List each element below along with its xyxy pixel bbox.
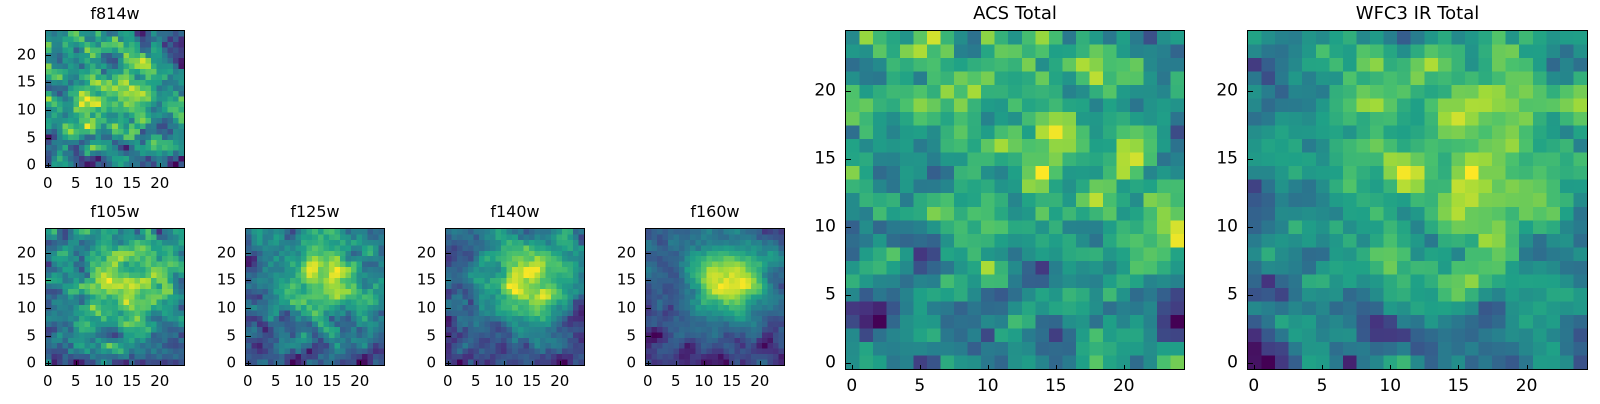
y-tick-label-f140w-10: 10 — [417, 301, 436, 316]
x-tick-label-wfc3-ir-total-5: 5 — [1317, 378, 1328, 395]
y-tick-label-acs-total-20: 20 — [814, 83, 836, 100]
heatmap-image-f105w — [46, 229, 184, 365]
y-tick-mark-f814w-5 — [46, 138, 51, 139]
y-tick-label-f140w-5: 5 — [426, 328, 436, 343]
x-tick-label-f140w-20: 20 — [550, 374, 569, 389]
panel-title-f814w: f814w — [45, 4, 185, 23]
x-tick-mark-f105w-15 — [132, 361, 133, 366]
x-tick-mark-wfc3-ir-total-15 — [1458, 365, 1459, 370]
y-tick-label-wfc3-ir-total-15: 15 — [1216, 151, 1238, 168]
y-tick-mark-wfc3-ir-total-15 — [1248, 159, 1253, 160]
x-tick-mark-f160w-5 — [676, 361, 677, 366]
panel-f105w: f105w0510152005101520 — [1, 202, 185, 400]
heatmap-image-acs-total — [846, 31, 1184, 369]
y-tick-label-f105w-0: 0 — [26, 356, 36, 371]
y-tick-label-f105w-15: 15 — [17, 273, 36, 288]
y-tick-mark-acs-total-5 — [846, 295, 851, 296]
x-tick-mark-f160w-10 — [704, 361, 705, 366]
x-tick-mark-f140w-10 — [504, 361, 505, 366]
x-tick-label-wfc3-ir-total-15: 15 — [1448, 378, 1470, 395]
y-tick-mark-f125w-5 — [246, 336, 251, 337]
y-tick-label-f125w-15: 15 — [217, 273, 236, 288]
panel-title-f140w: f140w — [445, 202, 585, 221]
y-tick-label-f125w-0: 0 — [226, 356, 236, 371]
x-tick-mark-f125w-0 — [248, 361, 249, 366]
x-tick-label-f105w-5: 5 — [71, 374, 81, 389]
x-tick-mark-f814w-0 — [48, 163, 49, 168]
x-tick-mark-f105w-5 — [76, 361, 77, 366]
x-tick-mark-wfc3-ir-total-10 — [1390, 365, 1391, 370]
y-tick-mark-f814w-15 — [46, 82, 51, 83]
x-tick-label-f105w-15: 15 — [122, 374, 141, 389]
x-tick-mark-f140w-15 — [532, 361, 533, 366]
x-tick-label-f814w-5: 5 — [71, 176, 81, 191]
x-tick-label-wfc3-ir-total-20: 20 — [1516, 378, 1538, 395]
heatmap-axes-wfc3-ir-total[interactable] — [1247, 30, 1588, 370]
x-tick-label-f140w-15: 15 — [522, 374, 541, 389]
x-tick-mark-f814w-20 — [160, 163, 161, 168]
x-tick-mark-wfc3-ir-total-0 — [1254, 365, 1255, 370]
y-tick-label-acs-total-0: 0 — [825, 355, 836, 372]
panel-acs-total: ACS Total0510152005101520 — [801, 3, 1185, 404]
y-tick-mark-f105w-20 — [46, 253, 51, 254]
x-tick-mark-wfc3-ir-total-20 — [1527, 365, 1528, 370]
x-tick-label-f814w-20: 20 — [150, 176, 169, 191]
y-tick-mark-acs-total-15 — [846, 159, 851, 160]
x-tick-label-f125w-20: 20 — [350, 374, 369, 389]
y-tick-mark-f125w-20 — [246, 253, 251, 254]
x-tick-mark-acs-total-10 — [988, 365, 989, 370]
x-tick-label-f125w-5: 5 — [271, 374, 281, 389]
x-tick-mark-f140w-20 — [560, 361, 561, 366]
y-tick-label-acs-total-10: 10 — [814, 219, 836, 236]
y-tick-label-wfc3-ir-total-10: 10 — [1216, 219, 1238, 236]
y-tick-label-f160w-20: 20 — [617, 245, 636, 260]
y-tick-mark-f125w-15 — [246, 280, 251, 281]
x-tick-mark-acs-total-0 — [852, 365, 853, 370]
figure-canvas: f814w0510152005101520f105w05101520051015… — [0, 0, 1600, 400]
y-tick-mark-f105w-10 — [46, 308, 51, 309]
x-tick-label-f160w-5: 5 — [671, 374, 681, 389]
y-tick-label-acs-total-15: 15 — [814, 151, 836, 168]
y-tick-mark-f140w-5 — [446, 336, 451, 337]
x-tick-mark-f105w-10 — [104, 361, 105, 366]
x-tick-label-f140w-10: 10 — [494, 374, 513, 389]
heatmap-axes-f814w[interactable] — [45, 30, 185, 168]
heatmap-image-wfc3-ir-total — [1248, 31, 1587, 369]
x-tick-label-f160w-0: 0 — [643, 374, 653, 389]
y-tick-label-f814w-5: 5 — [26, 130, 36, 145]
y-tick-label-acs-total-5: 5 — [825, 287, 836, 304]
x-tick-label-f105w-10: 10 — [94, 374, 113, 389]
heatmap-axes-f125w[interactable] — [245, 228, 385, 366]
panel-wfc3-ir-total: WFC3 IR Total0510152005101520 — [1203, 3, 1588, 404]
y-tick-mark-f125w-10 — [246, 308, 251, 309]
x-tick-label-f160w-15: 15 — [722, 374, 741, 389]
y-tick-mark-f814w-20 — [46, 55, 51, 56]
x-tick-label-f160w-20: 20 — [750, 374, 769, 389]
x-tick-mark-f140w-5 — [476, 361, 477, 366]
panel-title-f125w: f125w — [245, 202, 385, 221]
x-tick-mark-acs-total-15 — [1056, 365, 1057, 370]
y-tick-mark-acs-total-0 — [846, 363, 851, 364]
x-tick-mark-wfc3-ir-total-5 — [1322, 365, 1323, 370]
panel-f125w: f125w0510152005101520 — [201, 202, 385, 400]
x-tick-label-wfc3-ir-total-0: 0 — [1248, 378, 1259, 395]
y-tick-mark-wfc3-ir-total-5 — [1248, 295, 1253, 296]
y-tick-label-f160w-15: 15 — [617, 273, 636, 288]
x-tick-label-f814w-15: 15 — [122, 176, 141, 191]
y-tick-mark-f105w-5 — [46, 336, 51, 337]
x-tick-label-acs-total-0: 0 — [846, 378, 857, 395]
heatmap-axes-f105w[interactable] — [45, 228, 185, 366]
y-tick-label-f125w-5: 5 — [226, 328, 236, 343]
y-tick-mark-f140w-10 — [446, 308, 451, 309]
heatmap-image-f814w — [46, 31, 184, 167]
x-tick-mark-f125w-5 — [276, 361, 277, 366]
x-tick-mark-f814w-15 — [132, 163, 133, 168]
x-tick-mark-f160w-15 — [732, 361, 733, 366]
y-tick-label-f125w-10: 10 — [217, 301, 236, 316]
y-tick-label-f814w-15: 15 — [17, 75, 36, 90]
y-tick-mark-acs-total-10 — [846, 227, 851, 228]
x-tick-label-f814w-0: 0 — [43, 176, 53, 191]
y-tick-label-wfc3-ir-total-20: 20 — [1216, 83, 1238, 100]
y-tick-label-f125w-20: 20 — [217, 245, 236, 260]
heatmap-image-f140w — [446, 229, 584, 365]
y-tick-label-f105w-5: 5 — [26, 328, 36, 343]
y-tick-mark-f140w-20 — [446, 253, 451, 254]
y-tick-mark-f814w-10 — [46, 110, 51, 111]
y-tick-label-f140w-15: 15 — [417, 273, 436, 288]
heatmap-axes-f140w[interactable] — [445, 228, 585, 366]
x-tick-label-acs-total-5: 5 — [914, 378, 925, 395]
x-tick-mark-f125w-10 — [304, 361, 305, 366]
y-tick-mark-f140w-15 — [446, 280, 451, 281]
x-tick-mark-f814w-5 — [76, 163, 77, 168]
panel-title-acs-total: ACS Total — [845, 3, 1185, 24]
x-tick-label-f125w-10: 10 — [294, 374, 313, 389]
panel-title-wfc3-ir-total: WFC3 IR Total — [1247, 3, 1588, 24]
heatmap-image-f160w — [646, 229, 784, 365]
panel-title-f105w: f105w — [45, 202, 185, 221]
y-tick-label-f160w-0: 0 — [626, 356, 636, 371]
panel-title-f160w: f160w — [645, 202, 785, 221]
y-tick-mark-wfc3-ir-total-20 — [1248, 91, 1253, 92]
y-tick-label-f140w-0: 0 — [426, 356, 436, 371]
x-tick-mark-acs-total-20 — [1124, 365, 1125, 370]
heatmap-image-f125w — [246, 229, 384, 365]
x-tick-label-f160w-10: 10 — [694, 374, 713, 389]
x-tick-mark-f140w-0 — [448, 361, 449, 366]
y-tick-label-f814w-0: 0 — [26, 158, 36, 173]
x-tick-label-f814w-10: 10 — [94, 176, 113, 191]
x-tick-mark-f160w-20 — [760, 361, 761, 366]
panel-f814w: f814w0510152005101520 — [1, 4, 185, 202]
x-tick-mark-f105w-0 — [48, 361, 49, 366]
x-tick-mark-acs-total-5 — [920, 365, 921, 370]
panel-f140w: f140w0510152005101520 — [401, 202, 585, 400]
heatmap-axes-f160w[interactable] — [645, 228, 785, 366]
y-tick-mark-f160w-10 — [646, 308, 651, 309]
x-tick-label-acs-total-15: 15 — [1045, 378, 1067, 395]
y-tick-mark-f160w-20 — [646, 253, 651, 254]
x-tick-label-acs-total-10: 10 — [977, 378, 999, 395]
x-tick-label-f140w-0: 0 — [443, 374, 453, 389]
y-tick-label-f105w-20: 20 — [17, 245, 36, 260]
panel-f160w: f160w0510152005101520 — [601, 202, 785, 400]
x-tick-label-wfc3-ir-total-10: 10 — [1379, 378, 1401, 395]
x-tick-label-f140w-5: 5 — [471, 374, 481, 389]
x-tick-mark-f160w-0 — [648, 361, 649, 366]
y-tick-label-f140w-20: 20 — [417, 245, 436, 260]
y-tick-mark-wfc3-ir-total-10 — [1248, 227, 1253, 228]
y-tick-mark-f160w-5 — [646, 336, 651, 337]
x-tick-mark-f125w-20 — [360, 361, 361, 366]
x-tick-mark-f814w-10 — [104, 163, 105, 168]
x-tick-mark-f125w-15 — [332, 361, 333, 366]
x-tick-label-f105w-20: 20 — [150, 374, 169, 389]
y-tick-mark-acs-total-20 — [846, 91, 851, 92]
y-tick-label-wfc3-ir-total-0: 0 — [1227, 355, 1238, 372]
y-tick-label-f814w-10: 10 — [17, 103, 36, 118]
y-tick-label-f160w-5: 5 — [626, 328, 636, 343]
x-tick-mark-f105w-20 — [160, 361, 161, 366]
y-tick-label-f814w-20: 20 — [17, 47, 36, 62]
x-tick-label-f125w-0: 0 — [243, 374, 253, 389]
x-tick-label-f105w-0: 0 — [43, 374, 53, 389]
y-tick-label-wfc3-ir-total-5: 5 — [1227, 287, 1238, 304]
x-tick-label-acs-total-20: 20 — [1113, 378, 1135, 395]
y-tick-label-f105w-10: 10 — [17, 301, 36, 316]
heatmap-axes-acs-total[interactable] — [845, 30, 1185, 370]
y-tick-label-f160w-10: 10 — [617, 301, 636, 316]
y-tick-mark-f160w-15 — [646, 280, 651, 281]
y-tick-mark-wfc3-ir-total-0 — [1248, 363, 1253, 364]
x-tick-label-f125w-15: 15 — [322, 374, 341, 389]
y-tick-mark-f105w-15 — [46, 280, 51, 281]
